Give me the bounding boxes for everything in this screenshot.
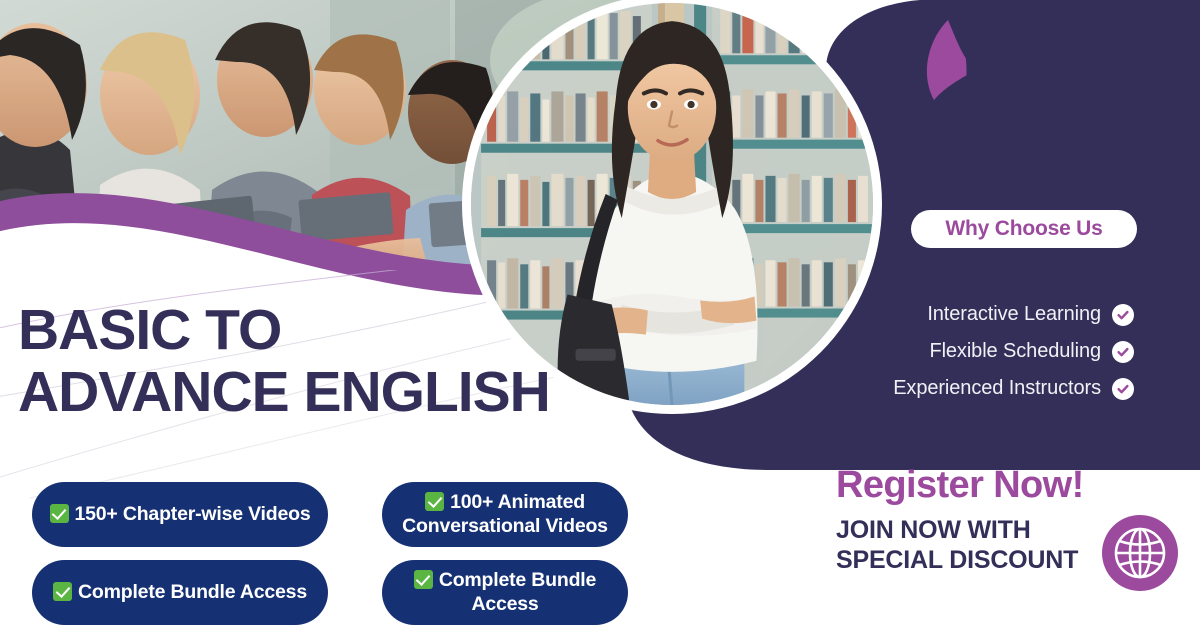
register-now-label: Register Now! (836, 466, 1084, 506)
badge-label: 100+ Animated Conversational Videos (398, 491, 612, 539)
headline-line-1: BASIC TO (18, 300, 550, 362)
green-check-icon (50, 504, 69, 523)
badge-complete-bundle-access-right[interactable]: Complete Bundle Access (382, 560, 628, 625)
feature-label: Interactive Learning (927, 303, 1101, 326)
badge-label: Complete Bundle Access (53, 581, 307, 605)
feature-item-interactive-learning: Interactive Learning (927, 303, 1134, 326)
page-title: BASIC TO ADVANCE ENGLISH (18, 300, 550, 423)
green-check-icon (425, 492, 444, 511)
register-cta[interactable]: Register Now! JOIN NOW WITH SPECIAL DISC… (836, 466, 1084, 576)
headline-line-2: ADVANCE ENGLISH (18, 362, 550, 424)
green-check-icon (53, 582, 72, 601)
check-circle-icon (1112, 378, 1134, 400)
badge-label: 150+ Chapter-wise Videos (50, 503, 311, 527)
join-discount-text: JOIN NOW WITH SPECIAL DISCOUNT (836, 515, 1084, 576)
globe-icon (1102, 515, 1178, 591)
green-check-icon (414, 570, 433, 589)
check-circle-icon (1112, 341, 1134, 363)
why-choose-us-label: Why Choose Us (945, 217, 1102, 241)
feature-badge-grid: 150+ Chapter-wise Videos 100+ Animated C… (32, 482, 632, 625)
triangle-sail-logo-icon (872, 8, 1042, 158)
feature-item-experienced-instructors: Experienced Instructors (893, 377, 1134, 400)
check-circle-icon (1112, 304, 1134, 326)
feature-label: Experienced Instructors (893, 377, 1101, 400)
join-line-1: JOIN NOW WITH (836, 515, 1084, 546)
badge-chapter-wise-videos[interactable]: 150+ Chapter-wise Videos (32, 482, 328, 547)
feature-item-flexible-scheduling: Flexible Scheduling (929, 340, 1134, 363)
join-line-2: SPECIAL DISCOUNT (836, 545, 1084, 576)
why-choose-us-pill: Why Choose Us (911, 210, 1137, 248)
badge-complete-bundle-access-left[interactable]: Complete Bundle Access (32, 560, 328, 625)
badge-label: Complete Bundle Access (398, 569, 612, 617)
feature-label: Flexible Scheduling (929, 340, 1101, 363)
badge-animated-conversational-videos[interactable]: 100+ Animated Conversational Videos (382, 482, 628, 547)
promo-banner: Why Choose Us Interactive Learning Flexi… (0, 0, 1200, 628)
feature-list: Interactive Learning Flexible Scheduling… (804, 303, 1134, 400)
